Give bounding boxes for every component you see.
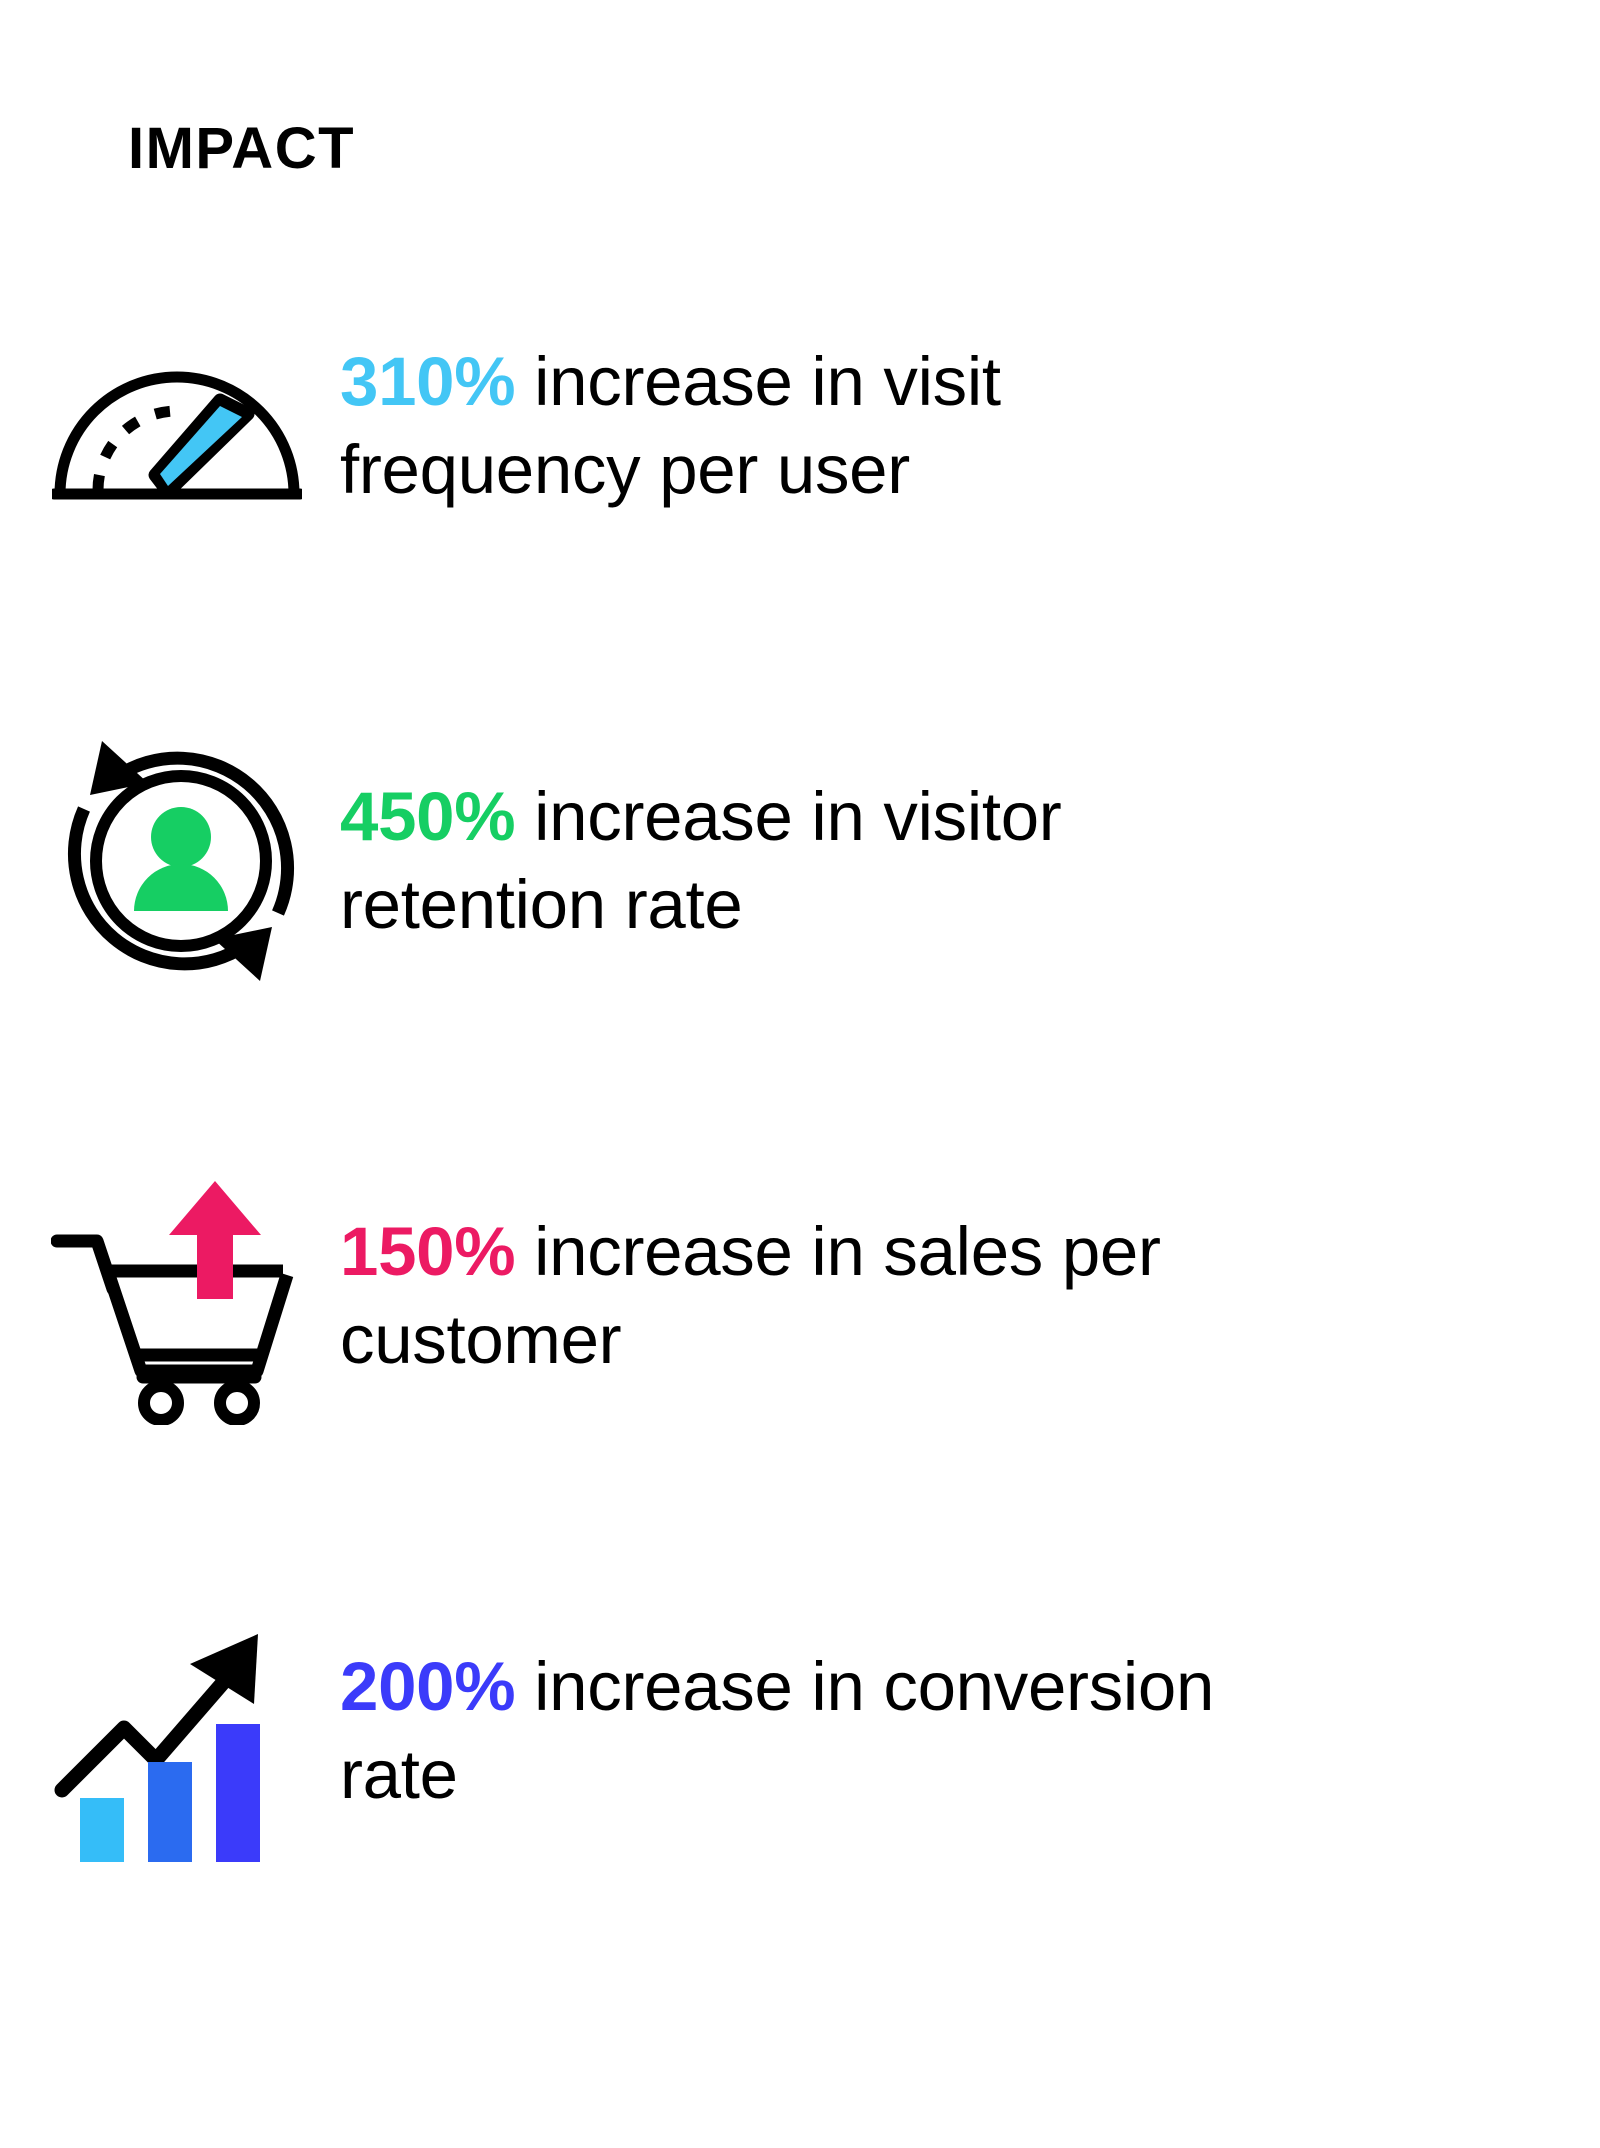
impact-stats-list: 310% increase in visit frequency per use… bbox=[10, 308, 1590, 1881]
stat-row: 310% increase in visit frequency per use… bbox=[10, 276, 1590, 576]
page-title: IMPACT bbox=[128, 120, 355, 178]
stat-text: 150% increase in sales per customer bbox=[340, 1208, 1270, 1385]
stat-value: 310% bbox=[340, 343, 515, 420]
bar-1 bbox=[80, 1798, 124, 1862]
shopping-cart-up-arrow-icon bbox=[16, 1165, 346, 1435]
stat-value: 450% bbox=[340, 778, 515, 855]
stat-text: 310% increase in visit frequency per use… bbox=[340, 338, 1270, 515]
bar-chart-trend-up-icon bbox=[10, 1602, 338, 1872]
stat-value: 200% bbox=[340, 1648, 515, 1725]
stat-text: 450% increase in visitor retention rate bbox=[340, 773, 1270, 950]
stat-row: 150% increase in sales per customer bbox=[10, 1146, 1590, 1446]
user-retention-cycle-icon bbox=[16, 726, 346, 996]
impact-card: IMPACT 310% increase in visi bbox=[10, 8, 1590, 2140]
stat-value: 150% bbox=[340, 1213, 515, 1290]
bar-3 bbox=[216, 1724, 260, 1862]
stat-row: 200% increase in conversion rate bbox=[10, 1581, 1590, 1881]
speedometer-gauge-icon bbox=[12, 287, 342, 557]
bar-2 bbox=[148, 1762, 192, 1862]
stat-text: 200% increase in conversion rate bbox=[340, 1643, 1270, 1820]
stat-row: 450% increase in visitor retention rate bbox=[10, 711, 1590, 1011]
